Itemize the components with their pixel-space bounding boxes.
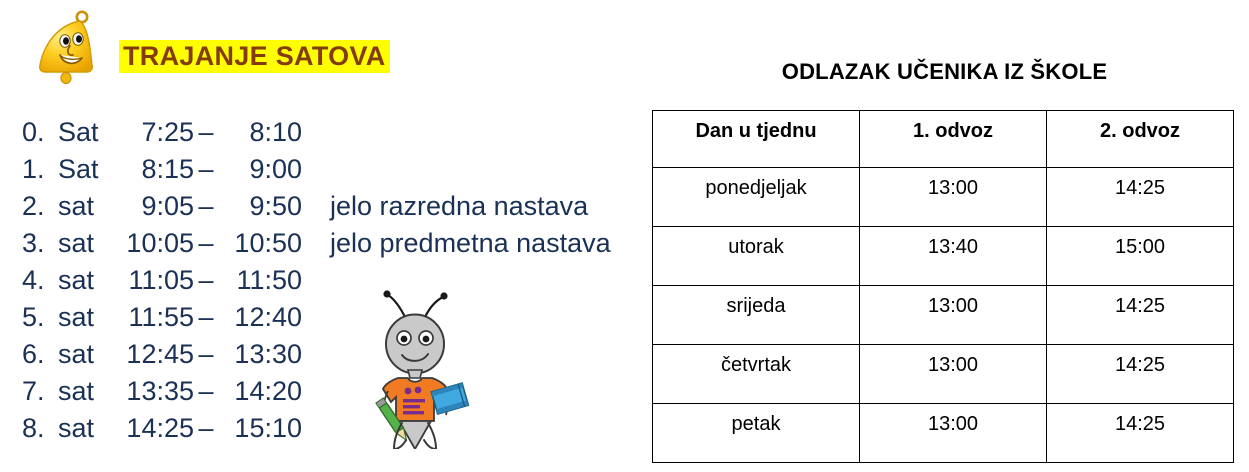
lesson-dash: – (194, 188, 218, 225)
lesson-word: sat (58, 299, 110, 336)
lesson-note: jelo razredna nastava (302, 188, 588, 225)
cell-day: ponedjeljak (653, 168, 860, 227)
cell-second-odvoz: 14:25 (1047, 286, 1234, 345)
table-row: srijeda 13:00 14:25 (653, 286, 1234, 345)
lesson-word: Sat (58, 114, 110, 151)
lesson-dash: – (194, 299, 218, 336)
cell-first-odvoz: 13:00 (860, 404, 1047, 463)
bell-icon (30, 8, 102, 88)
table-header-row: Dan u tjednu 1. odvoz 2. odvoz (653, 111, 1234, 168)
table-row: petak 13:00 14:25 (653, 404, 1234, 463)
lesson-start-time: 14:25 (110, 410, 194, 447)
lesson-word: sat (58, 225, 110, 262)
cell-second-odvoz: 15:00 (1047, 227, 1234, 286)
departure-panel: ODLAZAK UČENIKA IZ ŠKOLE Dan u tjednu 1.… (640, 0, 1249, 472)
cell-second-odvoz: 14:25 (1047, 345, 1234, 404)
table-row: utorak 13:40 15:00 (653, 227, 1234, 286)
lesson-ordinal: 8. (22, 410, 58, 447)
lesson-ordinal: 4. (22, 262, 58, 299)
lesson-end-time: 9:00 (218, 151, 302, 188)
lesson-end-time: 9:50 (218, 188, 302, 225)
lesson-dash: – (194, 225, 218, 262)
lesson-row: 4. sat 11:05 – 11:50 (22, 262, 632, 299)
lesson-start-time: 11:05 (110, 262, 194, 299)
lesson-dash: – (194, 151, 218, 188)
page-title: TRAJANJE SATOVA (119, 40, 390, 73)
column-header-first: 1. odvoz (860, 111, 1047, 168)
cell-first-odvoz: 13:00 (860, 286, 1047, 345)
schedule-poster: TRAJANJE SATOVA 0. Sat 7:25 – 8:10 1. Sa… (0, 0, 1249, 472)
cell-first-odvoz: 13:00 (860, 168, 1047, 227)
lesson-dash: – (194, 114, 218, 151)
departure-heading: ODLAZAK UČENIKA IZ ŠKOLE (640, 58, 1249, 86)
cell-first-odvoz: 13:00 (860, 345, 1047, 404)
cell-day: srijeda (653, 286, 860, 345)
lesson-ordinal: 7. (22, 373, 58, 410)
lesson-dash: – (194, 336, 218, 373)
lesson-start-time: 9:05 (110, 188, 194, 225)
cell-day: utorak (653, 227, 860, 286)
column-header-second: 2. odvoz (1047, 111, 1234, 168)
lesson-row: 2. sat 9:05 – 9:50 jelo razredna nastava (22, 188, 632, 225)
lesson-start-time: 12:45 (110, 336, 194, 373)
lesson-start-time: 11:55 (110, 299, 194, 336)
lesson-start-time: 8:15 (110, 151, 194, 188)
lesson-start-time: 10:05 (110, 225, 194, 262)
ant-student-icon (358, 283, 472, 449)
cell-day: petak (653, 404, 860, 463)
lesson-times-list: 0. Sat 7:25 – 8:10 1. Sat 8:15 – 9:00 2.… (22, 114, 632, 447)
lesson-row: 0. Sat 7:25 – 8:10 (22, 114, 632, 151)
lesson-end-time: 10:50 (218, 225, 302, 262)
lesson-note: jelo predmetna nastava (302, 225, 611, 262)
lesson-ordinal: 3. (22, 225, 58, 262)
lesson-ordinal: 6. (22, 336, 58, 373)
lesson-row: 3. sat 10:05 – 10:50 jelo predmetna nast… (22, 225, 632, 262)
lesson-end-time: 15:10 (218, 410, 302, 447)
lesson-row: 6. sat 12:45 – 13:30 (22, 336, 632, 373)
lesson-word: sat (58, 336, 110, 373)
lesson-ordinal: 2. (22, 188, 58, 225)
lesson-row: 7. sat 13:35 – 14:20 (22, 373, 632, 410)
lesson-word: sat (58, 188, 110, 225)
lesson-dash: – (194, 373, 218, 410)
cell-second-odvoz: 14:25 (1047, 404, 1234, 463)
lesson-times-panel: TRAJANJE SATOVA 0. Sat 7:25 – 8:10 1. Sa… (0, 0, 640, 472)
lesson-word: Sat (58, 151, 110, 188)
lesson-word: sat (58, 262, 110, 299)
lesson-dash: – (194, 262, 218, 299)
lesson-word: sat (58, 373, 110, 410)
lesson-end-time: 8:10 (218, 114, 302, 151)
departure-table: Dan u tjednu 1. odvoz 2. odvoz ponedjelj… (652, 110, 1234, 463)
lesson-ordinal: 1. (22, 151, 58, 188)
cell-first-odvoz: 13:40 (860, 227, 1047, 286)
lesson-row: 8. sat 14:25 – 15:10 (22, 410, 632, 447)
lesson-ordinal: 5. (22, 299, 58, 336)
cell-second-odvoz: 14:25 (1047, 168, 1234, 227)
lesson-end-time: 11:50 (218, 262, 302, 299)
lesson-word: sat (58, 410, 110, 447)
column-header-day: Dan u tjednu (653, 111, 860, 168)
lesson-dash: – (194, 410, 218, 447)
table-row: ponedjeljak 13:00 14:25 (653, 168, 1234, 227)
lesson-row: 1. Sat 8:15 – 9:00 (22, 151, 632, 188)
table-row: četvrtak 13:00 14:25 (653, 345, 1234, 404)
lesson-start-time: 13:35 (110, 373, 194, 410)
lesson-end-time: 13:30 (218, 336, 302, 373)
lesson-row: 5. sat 11:55 – 12:40 (22, 299, 632, 336)
lesson-end-time: 14:20 (218, 373, 302, 410)
cell-day: četvrtak (653, 345, 860, 404)
lesson-start-time: 7:25 (110, 114, 194, 151)
lesson-ordinal: 0. (22, 114, 58, 151)
lesson-end-time: 12:40 (218, 299, 302, 336)
